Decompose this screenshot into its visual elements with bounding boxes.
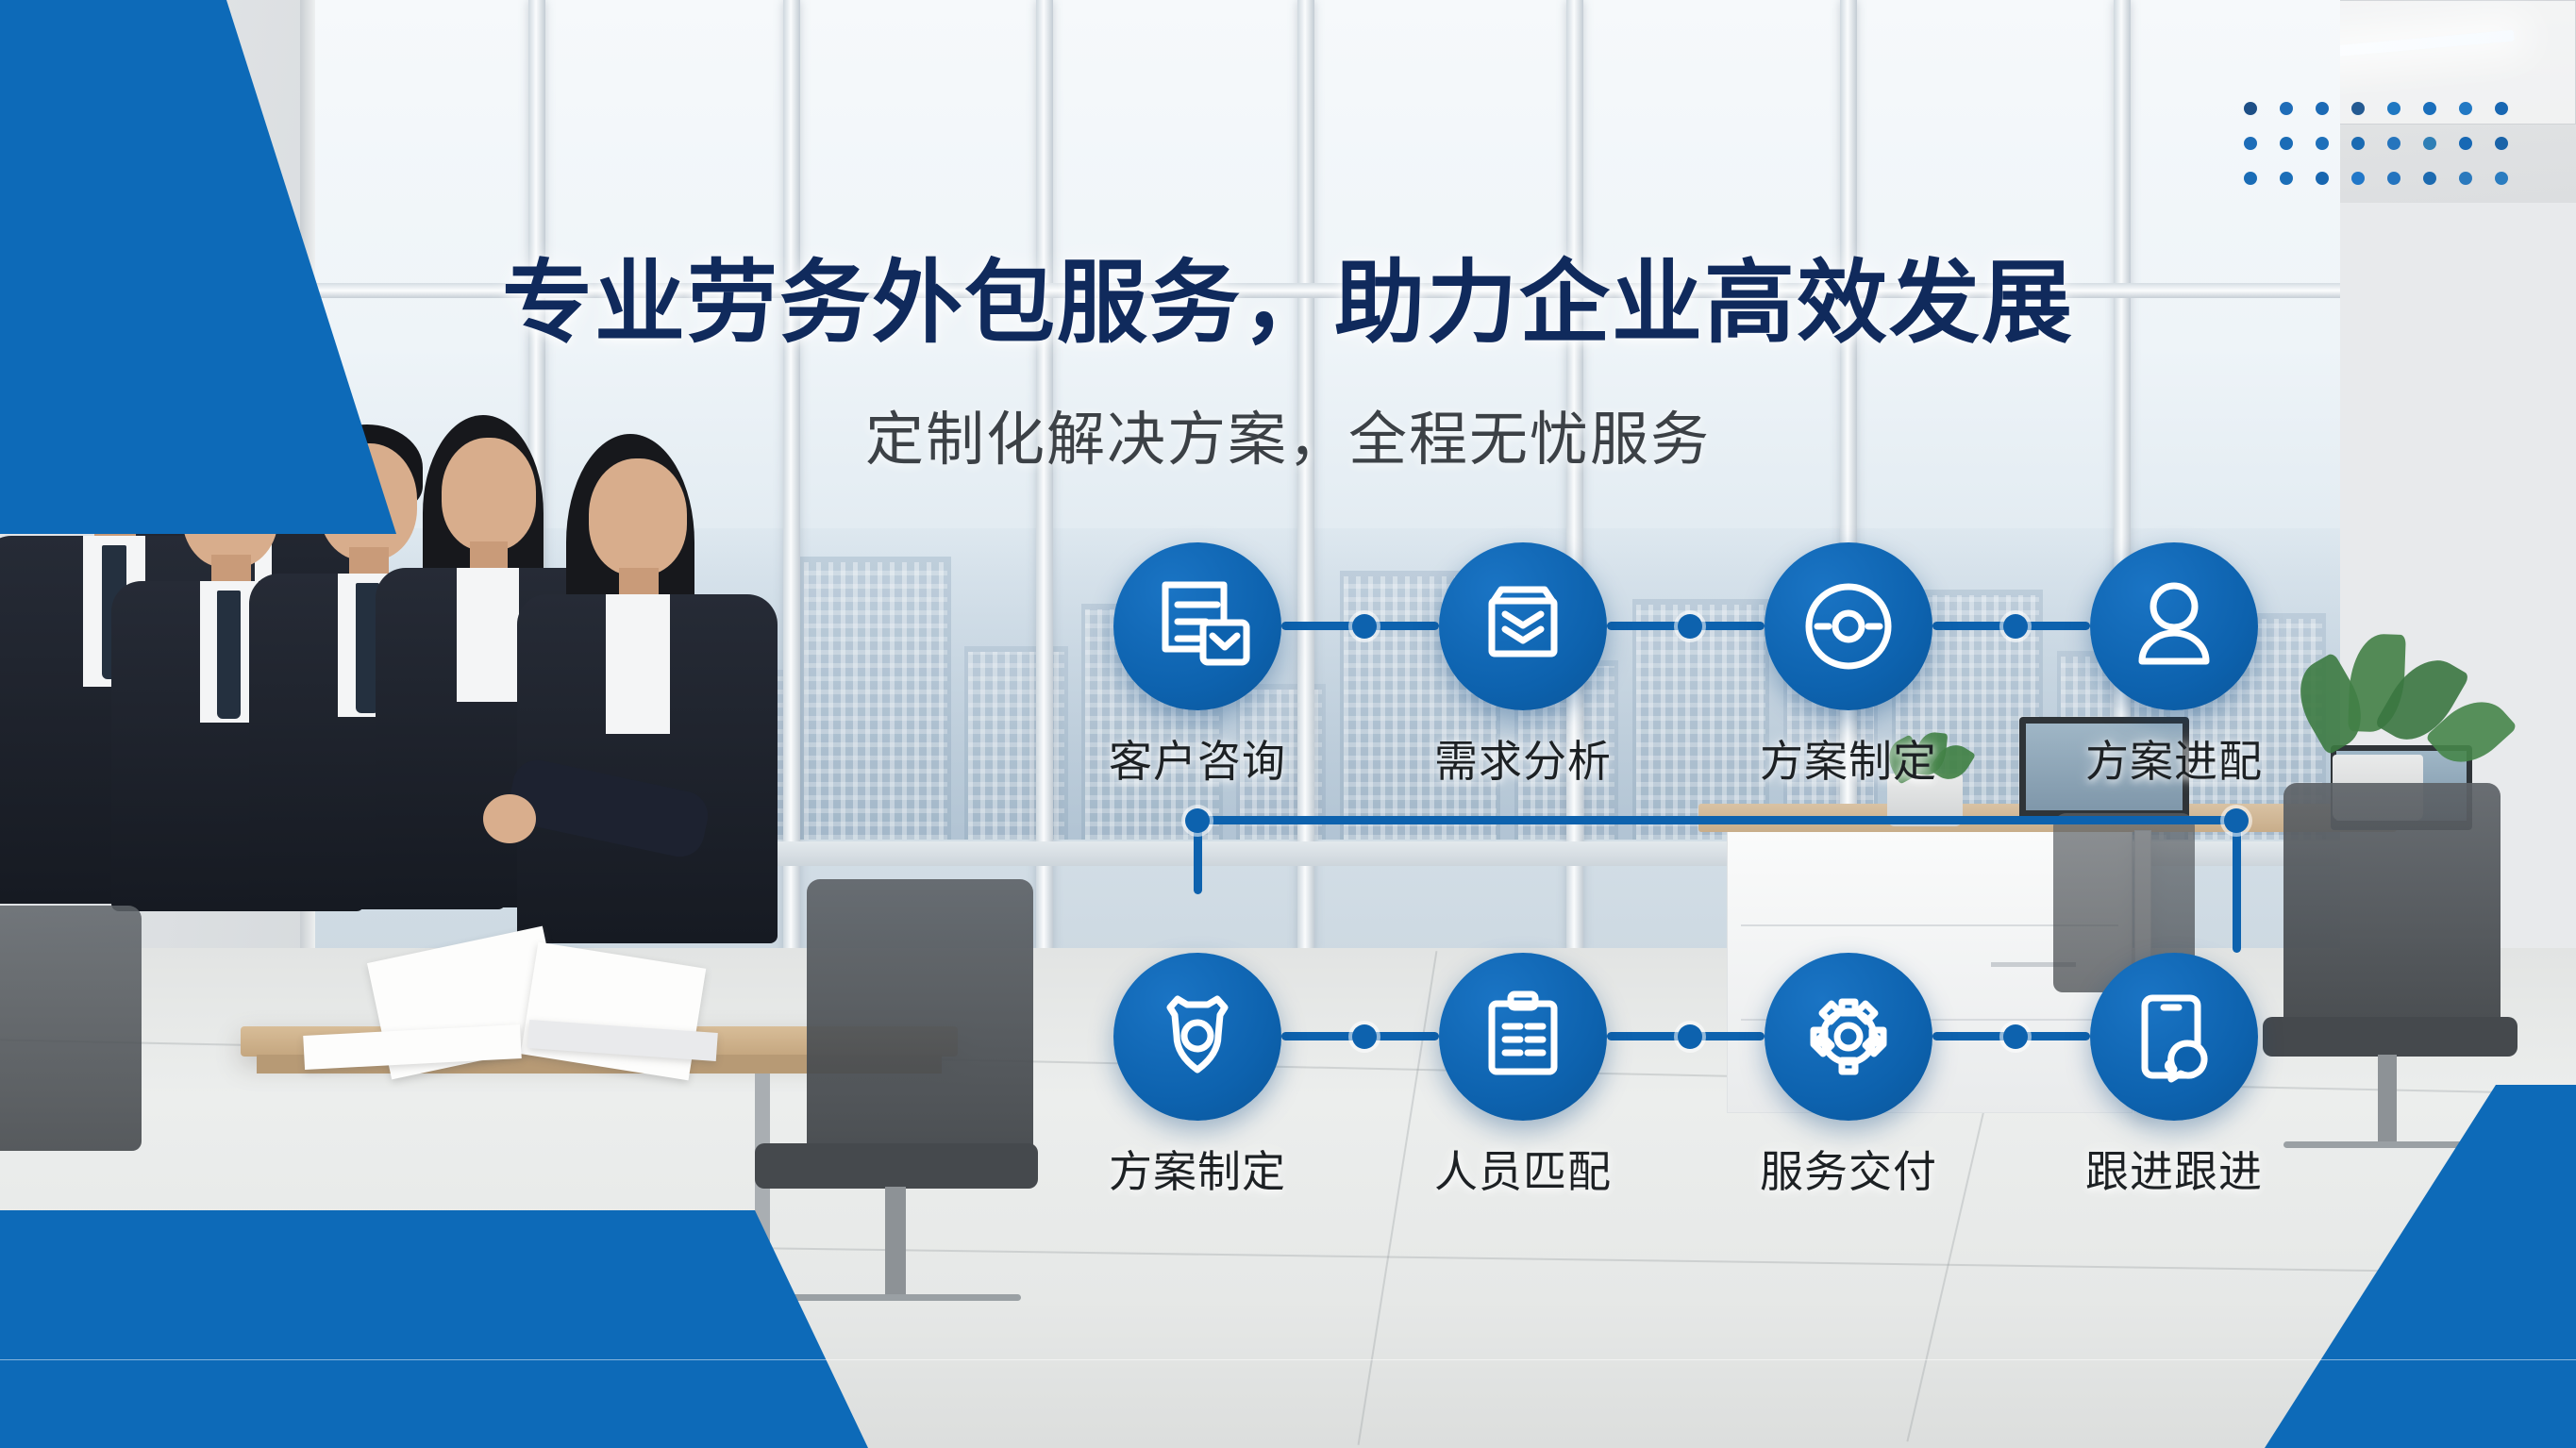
dot-grid-pattern (2244, 102, 2531, 207)
connector-segment (2233, 816, 2241, 953)
connector-joint (1678, 614, 1702, 639)
connector-joint (1185, 808, 1210, 833)
gear-cog-icon (1765, 953, 1932, 1121)
flow-step-label: 人员匹配 (1381, 1138, 1664, 1200)
flow-step-top-1[interactable]: 客户咨询 (1113, 542, 1281, 710)
flow-step-bottom-3[interactable]: 服务交付 (1765, 953, 1932, 1121)
target-crosshair-icon (1765, 542, 1932, 710)
flow-step-label: 方案制定 (1056, 1138, 1339, 1200)
flow-step-label: 客户咨询 (1056, 727, 1339, 790)
mobile-chat-icon (2090, 953, 2258, 1121)
flow-step-top-4[interactable]: 方案进配 (2090, 542, 2258, 710)
flow-step-bottom-4[interactable]: 跟进跟进 (2090, 953, 2258, 1121)
flow-step-top-2[interactable]: 需求分析 (1439, 542, 1607, 710)
decor-hairline (0, 1359, 2576, 1360)
flow-step-label: 方案制定 (1707, 727, 1990, 790)
office-chair (0, 906, 142, 1151)
flow-step-top-3[interactable]: 方案制定 (1765, 542, 1932, 710)
flow-step-label: 需求分析 (1381, 727, 1664, 790)
shield-badge-icon (1113, 953, 1281, 1121)
flow-step-bottom-2[interactable]: 人员匹配 (1439, 953, 1607, 1121)
connector-joint (2003, 1024, 2028, 1049)
hero-headline: 专业劳务外包服务，助力企业高效发展 (0, 253, 2576, 355)
connector-segment (1194, 816, 2241, 824)
connector-joint (1352, 614, 1377, 639)
office-chair (807, 879, 1033, 1162)
archive-box-chevrons-icon (1439, 542, 1607, 710)
hero-subheadline: 定制化解决方案，全程无忧服务 (0, 391, 2576, 476)
document-check-icon (1113, 542, 1281, 710)
connector-joint (2224, 808, 2249, 833)
decor-shape-bottom-left (0, 1210, 868, 1448)
process-flow: 客户咨询 需求分析 方 (1113, 542, 2416, 1240)
connector-joint (1352, 1024, 1377, 1049)
flow-step-label: 方案进配 (2032, 727, 2316, 790)
connector-joint (2003, 614, 2028, 639)
clipboard-list-icon (1439, 953, 1607, 1121)
flow-step-label: 跟进跟进 (2032, 1138, 2316, 1200)
hero-banner: 专业劳务外包服务，助力企业高效发展 定制化解决方案，全程无忧服务 (0, 0, 2576, 1448)
connector-joint (1678, 1024, 1702, 1049)
user-person-icon (2090, 542, 2258, 710)
flow-step-bottom-1[interactable]: 方案制定 (1113, 953, 1281, 1121)
flow-step-label: 服务交付 (1707, 1138, 1990, 1200)
